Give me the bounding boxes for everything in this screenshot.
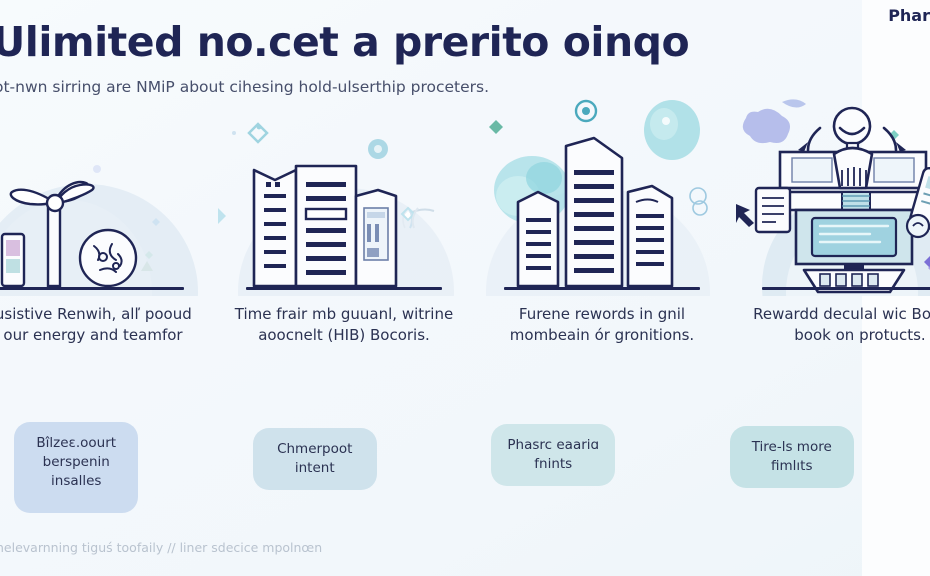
pill-slot-4: Tire-ls more fimlıts [676, 420, 909, 510]
page-subtitle: ot-nwn sirring are NMiP about cihesing h… [0, 78, 489, 96]
ground-line-2 [246, 287, 442, 290]
pill-row: Bîlzeɛ.oourt berspenin insalles Chmerpoo… [0, 420, 930, 510]
ground-line-4 [762, 287, 930, 290]
feature-caption-3: Furene rewords in gnil mombeain ór groni… [476, 304, 728, 346]
pill-slot-1: Bîlzeɛ.oourt berspenin insalles [0, 420, 193, 510]
robot-kiosk-illustration [734, 96, 930, 296]
feature-column-4: Rewardd deculal wic Bovon'l book on prot… [734, 96, 930, 426]
pill-slot-3: Phasrc eaariɑ fnints [437, 420, 670, 510]
footer-note: nelevarnning tiguś toofaily // liner sde… [0, 540, 322, 555]
pill-button-4[interactable]: Tire-ls more fimlıts [730, 426, 854, 488]
page-title: Ulimited no.cet a prerito oinqo [0, 18, 689, 66]
slide-canvas: Ulimited no.cet a prerito oinqo ot-nwn s… [0, 0, 930, 576]
city-buildings-illustration [218, 96, 470, 296]
pill-button-1[interactable]: Bîlzeɛ.oourt berspenin insalles [14, 422, 138, 513]
brand-label: Phar [888, 6, 930, 25]
ground-line-1 [0, 287, 184, 290]
feature-caption-1: Clusistive Renwih, alľ pooud e our energ… [0, 304, 212, 346]
wind-turbine-illustration [0, 96, 212, 296]
ground-line-3 [504, 287, 700, 290]
feature-caption-4: Rewardd deculal wic Bovon'l book on prot… [734, 304, 930, 346]
feature-column-2: Time frair mb guuanl, witrine aoocnelt (… [218, 96, 470, 426]
pill-button-2[interactable]: Chmerpoot intent [253, 428, 377, 490]
pill-button-3[interactable]: Phasrc eaariɑ fnints [491, 424, 615, 486]
feature-column-1: Clusistive Renwih, alľ pooud e our energ… [0, 96, 212, 426]
feature-caption-2: Time frair mb guuanl, witrine aoocnelt (… [218, 304, 470, 346]
feature-column-3: Furene rewords in gnil mombeain ór groni… [476, 96, 728, 426]
skyline-towers-illustration [476, 96, 728, 296]
feature-columns: Clusistive Renwih, alľ pooud e our energ… [0, 96, 930, 426]
pill-slot-2: Chmerpoot intent [199, 420, 432, 510]
